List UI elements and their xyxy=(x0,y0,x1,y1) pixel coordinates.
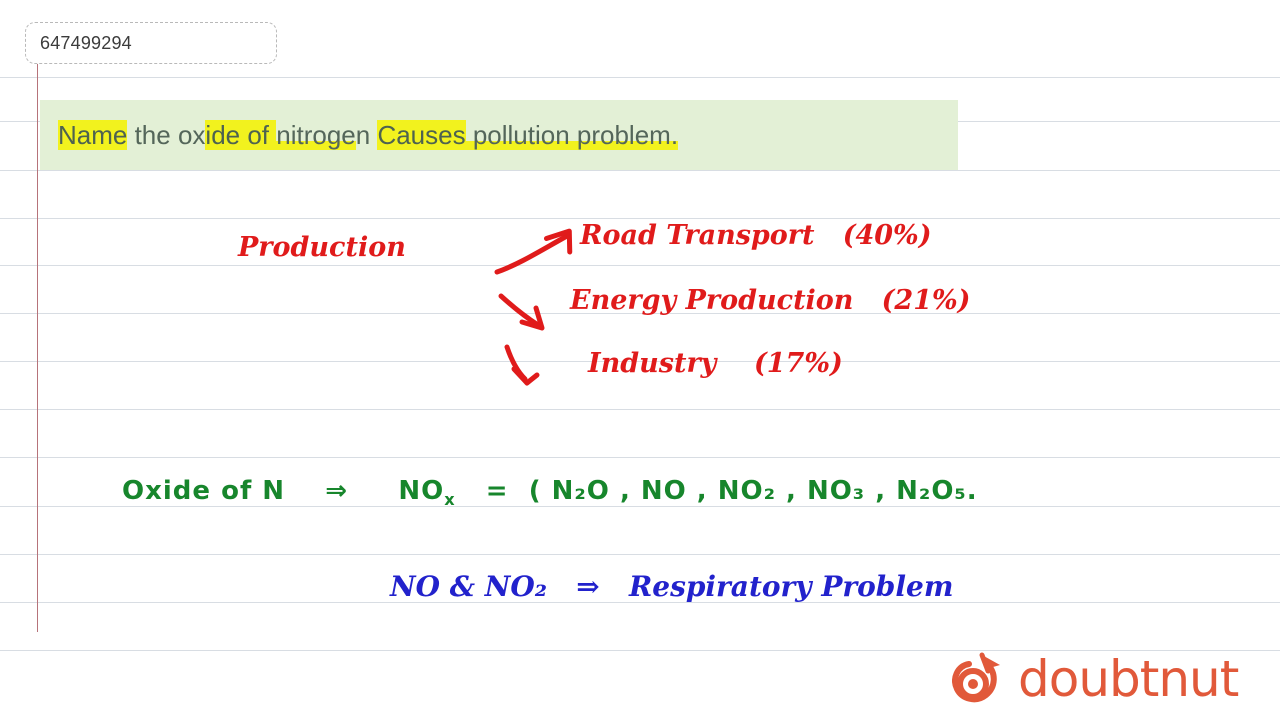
rule-line xyxy=(0,77,1280,78)
question-id-text: 647499294 xyxy=(26,33,132,54)
source-percent: (40%) xyxy=(843,220,932,251)
handwriting-respiratory-effect: NO & NO₂ ⇒ Respiratory Problem xyxy=(390,570,953,603)
rule-line xyxy=(0,218,1280,219)
effect-result: Respiratory Problem xyxy=(629,570,953,603)
rule-line xyxy=(0,554,1280,555)
question-segment: n xyxy=(356,120,378,150)
nox-subscript: x xyxy=(444,490,455,509)
arrow-down-icon xyxy=(503,345,553,391)
oxide-prefix: Oxide of N xyxy=(122,476,285,506)
source-percent: (17%) xyxy=(754,348,843,379)
oxide-species-list: ( N₂O , NO , NO₂ , NO₃ , N₂O₅. xyxy=(529,476,978,506)
question-segment: the ox xyxy=(127,120,205,150)
nox-label: NO xyxy=(398,476,444,506)
rule-line xyxy=(0,409,1280,410)
implies-arrow-icon: ⇒ xyxy=(576,570,599,603)
question-id-badge: 647499294 xyxy=(25,22,277,64)
handwriting-source-industry: Industry (17%) xyxy=(588,348,843,379)
question-segment: nitroge xyxy=(276,120,356,150)
effect-reactants: NO & NO₂ xyxy=(390,570,547,603)
rule-line xyxy=(0,457,1280,458)
source-name: Road Transport xyxy=(580,220,814,251)
question-segment: Name xyxy=(58,120,127,150)
source-name: Energy Production xyxy=(570,285,853,316)
question-segment: Causes xyxy=(377,120,465,150)
rule-line xyxy=(0,265,1280,266)
arrow-down-right-icon xyxy=(498,292,558,338)
question-segment: ide of xyxy=(205,120,276,150)
question-segment: pollution xyxy=(466,120,570,150)
handwriting-oxide-definition: Oxide of N ⇒ NOx = ( N₂O , NO , NO₂ , NO… xyxy=(122,476,978,509)
handwriting-production-label: Production xyxy=(238,232,406,263)
question-banner: Name the oxide of nitrogen Causes pollut… xyxy=(40,100,958,170)
arrow-up-right-icon xyxy=(495,228,585,278)
doubtnut-mark-icon xyxy=(952,651,1008,707)
source-name: Industry xyxy=(588,348,716,379)
question-segment: problem. xyxy=(570,120,678,150)
doubtnut-logo: doubtnut xyxy=(952,648,1238,710)
margin-line xyxy=(37,22,38,632)
handwriting-source-energy-production: Energy Production (21%) xyxy=(570,285,970,316)
doubtnut-wordmark: doubtnut xyxy=(1018,654,1238,704)
rule-line xyxy=(0,170,1280,171)
handwriting-source-road-transport: Road Transport (40%) xyxy=(580,220,931,251)
question-text: Name the oxide of nitrogen Causes pollut… xyxy=(40,120,678,151)
implies-arrow-icon: ⇒ xyxy=(325,476,348,506)
equals-sign: = xyxy=(486,476,509,506)
source-percent: (21%) xyxy=(882,285,971,316)
